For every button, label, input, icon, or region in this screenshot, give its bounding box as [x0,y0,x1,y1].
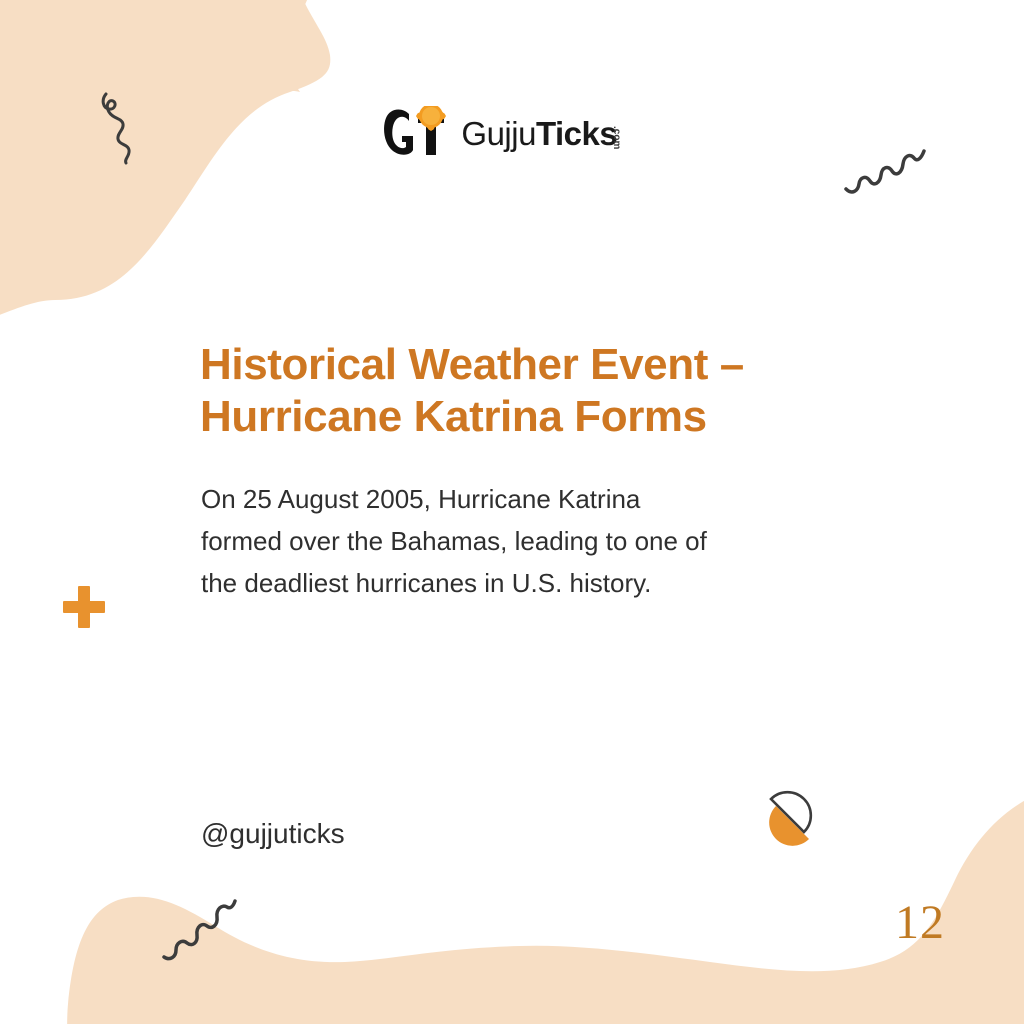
page-number: 12 [895,895,945,950]
squiggle-icon-top-right [842,137,928,199]
page-title-line-1: Historical Weather Event – [200,339,840,391]
squiggle-icon-bottom-left [160,895,240,965]
page-title-line-2: Hurricane Katrina Forms [200,391,840,443]
body-text: On 25 August 2005, Hurricane Katrina for… [201,478,841,604]
brand-name-part1: Gujju [461,115,536,152]
top-left-blob [0,0,330,330]
body-text-line-1: On 25 August 2005, Hurricane Katrina [201,478,841,520]
brand-tld: .com [611,126,621,149]
gt-monogram-icon [383,106,451,158]
brand-name-part2: Ticks [536,115,617,152]
slide-canvas: GujjuTicks.com Historical Weather Event … [0,0,1024,1024]
page-title: Historical Weather Event – Hurricane Kat… [200,339,840,443]
half-circle-pair-icon [757,783,829,855]
half-circle-filled [769,806,809,846]
squiggle-icon-top-left [100,88,162,166]
body-text-line-2: formed over the Bahamas, leading to one … [201,520,841,562]
body-text-line-3: the deadliest hurricanes in U.S. history… [201,562,841,604]
top-left-blob-lobe [170,0,312,57]
social-handle: @gujjuticks [201,818,345,850]
plus-icon [63,586,105,628]
brand-wordmark: GujjuTicks.com [461,117,640,150]
